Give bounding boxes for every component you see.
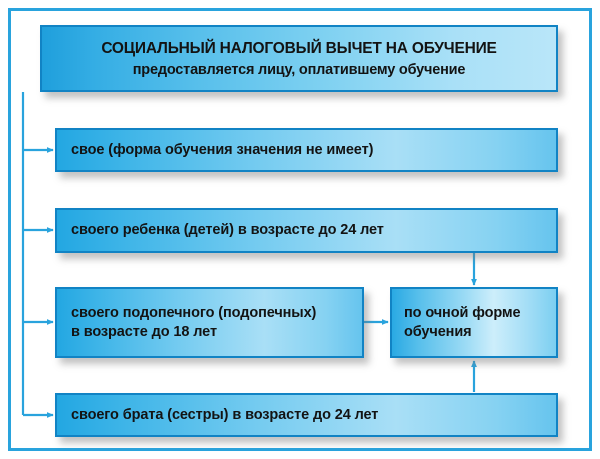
flowchart-canvas: СОЦИАЛЬНЫЙ НАЛОГОВЫЙ ВЫЧЕТ НА ОБУЧЕНИЕ п…: [0, 0, 600, 459]
node-full-time-form-label-line2: обучения: [404, 323, 521, 342]
node-own-education: свое (форма обучения значения не имеет): [55, 128, 558, 172]
node-full-time-form: по очной форме обучения: [390, 287, 558, 358]
node-ward-education: своего подопечного (подопечных) в возрас…: [55, 287, 364, 358]
node-ward-education-label-line1: своего подопечного (подопечных): [71, 304, 316, 323]
node-child-education-label: своего ребенка (детей) в возрасте до 24 …: [71, 221, 384, 240]
node-child-education: своего ребенка (детей) в возрасте до 24 …: [55, 208, 558, 253]
node-ward-education-label-line2: в возрасте до 18 лет: [71, 323, 316, 342]
title-line-2: предоставляется лицу, оплатившему обучен…: [133, 62, 466, 78]
node-own-education-label: свое (форма обучения значения не имеет): [71, 141, 373, 160]
title-box: СОЦИАЛЬНЫЙ НАЛОГОВЫЙ ВЫЧЕТ НА ОБУЧЕНИЕ п…: [40, 25, 558, 92]
node-sibling-education-label: своего брата (сестры) в возрасте до 24 л…: [71, 406, 378, 425]
title-line-1: СОЦИАЛЬНЫЙ НАЛОГОВЫЙ ВЫЧЕТ НА ОБУЧЕНИЕ: [101, 40, 496, 58]
node-ward-education-text: своего подопечного (подопечных) в возрас…: [71, 304, 316, 341]
node-full-time-form-text: по очной форме обучения: [404, 304, 521, 342]
node-sibling-education: своего брата (сестры) в возрасте до 24 л…: [55, 393, 558, 437]
node-full-time-form-label-line1: по очной форме: [404, 304, 521, 323]
